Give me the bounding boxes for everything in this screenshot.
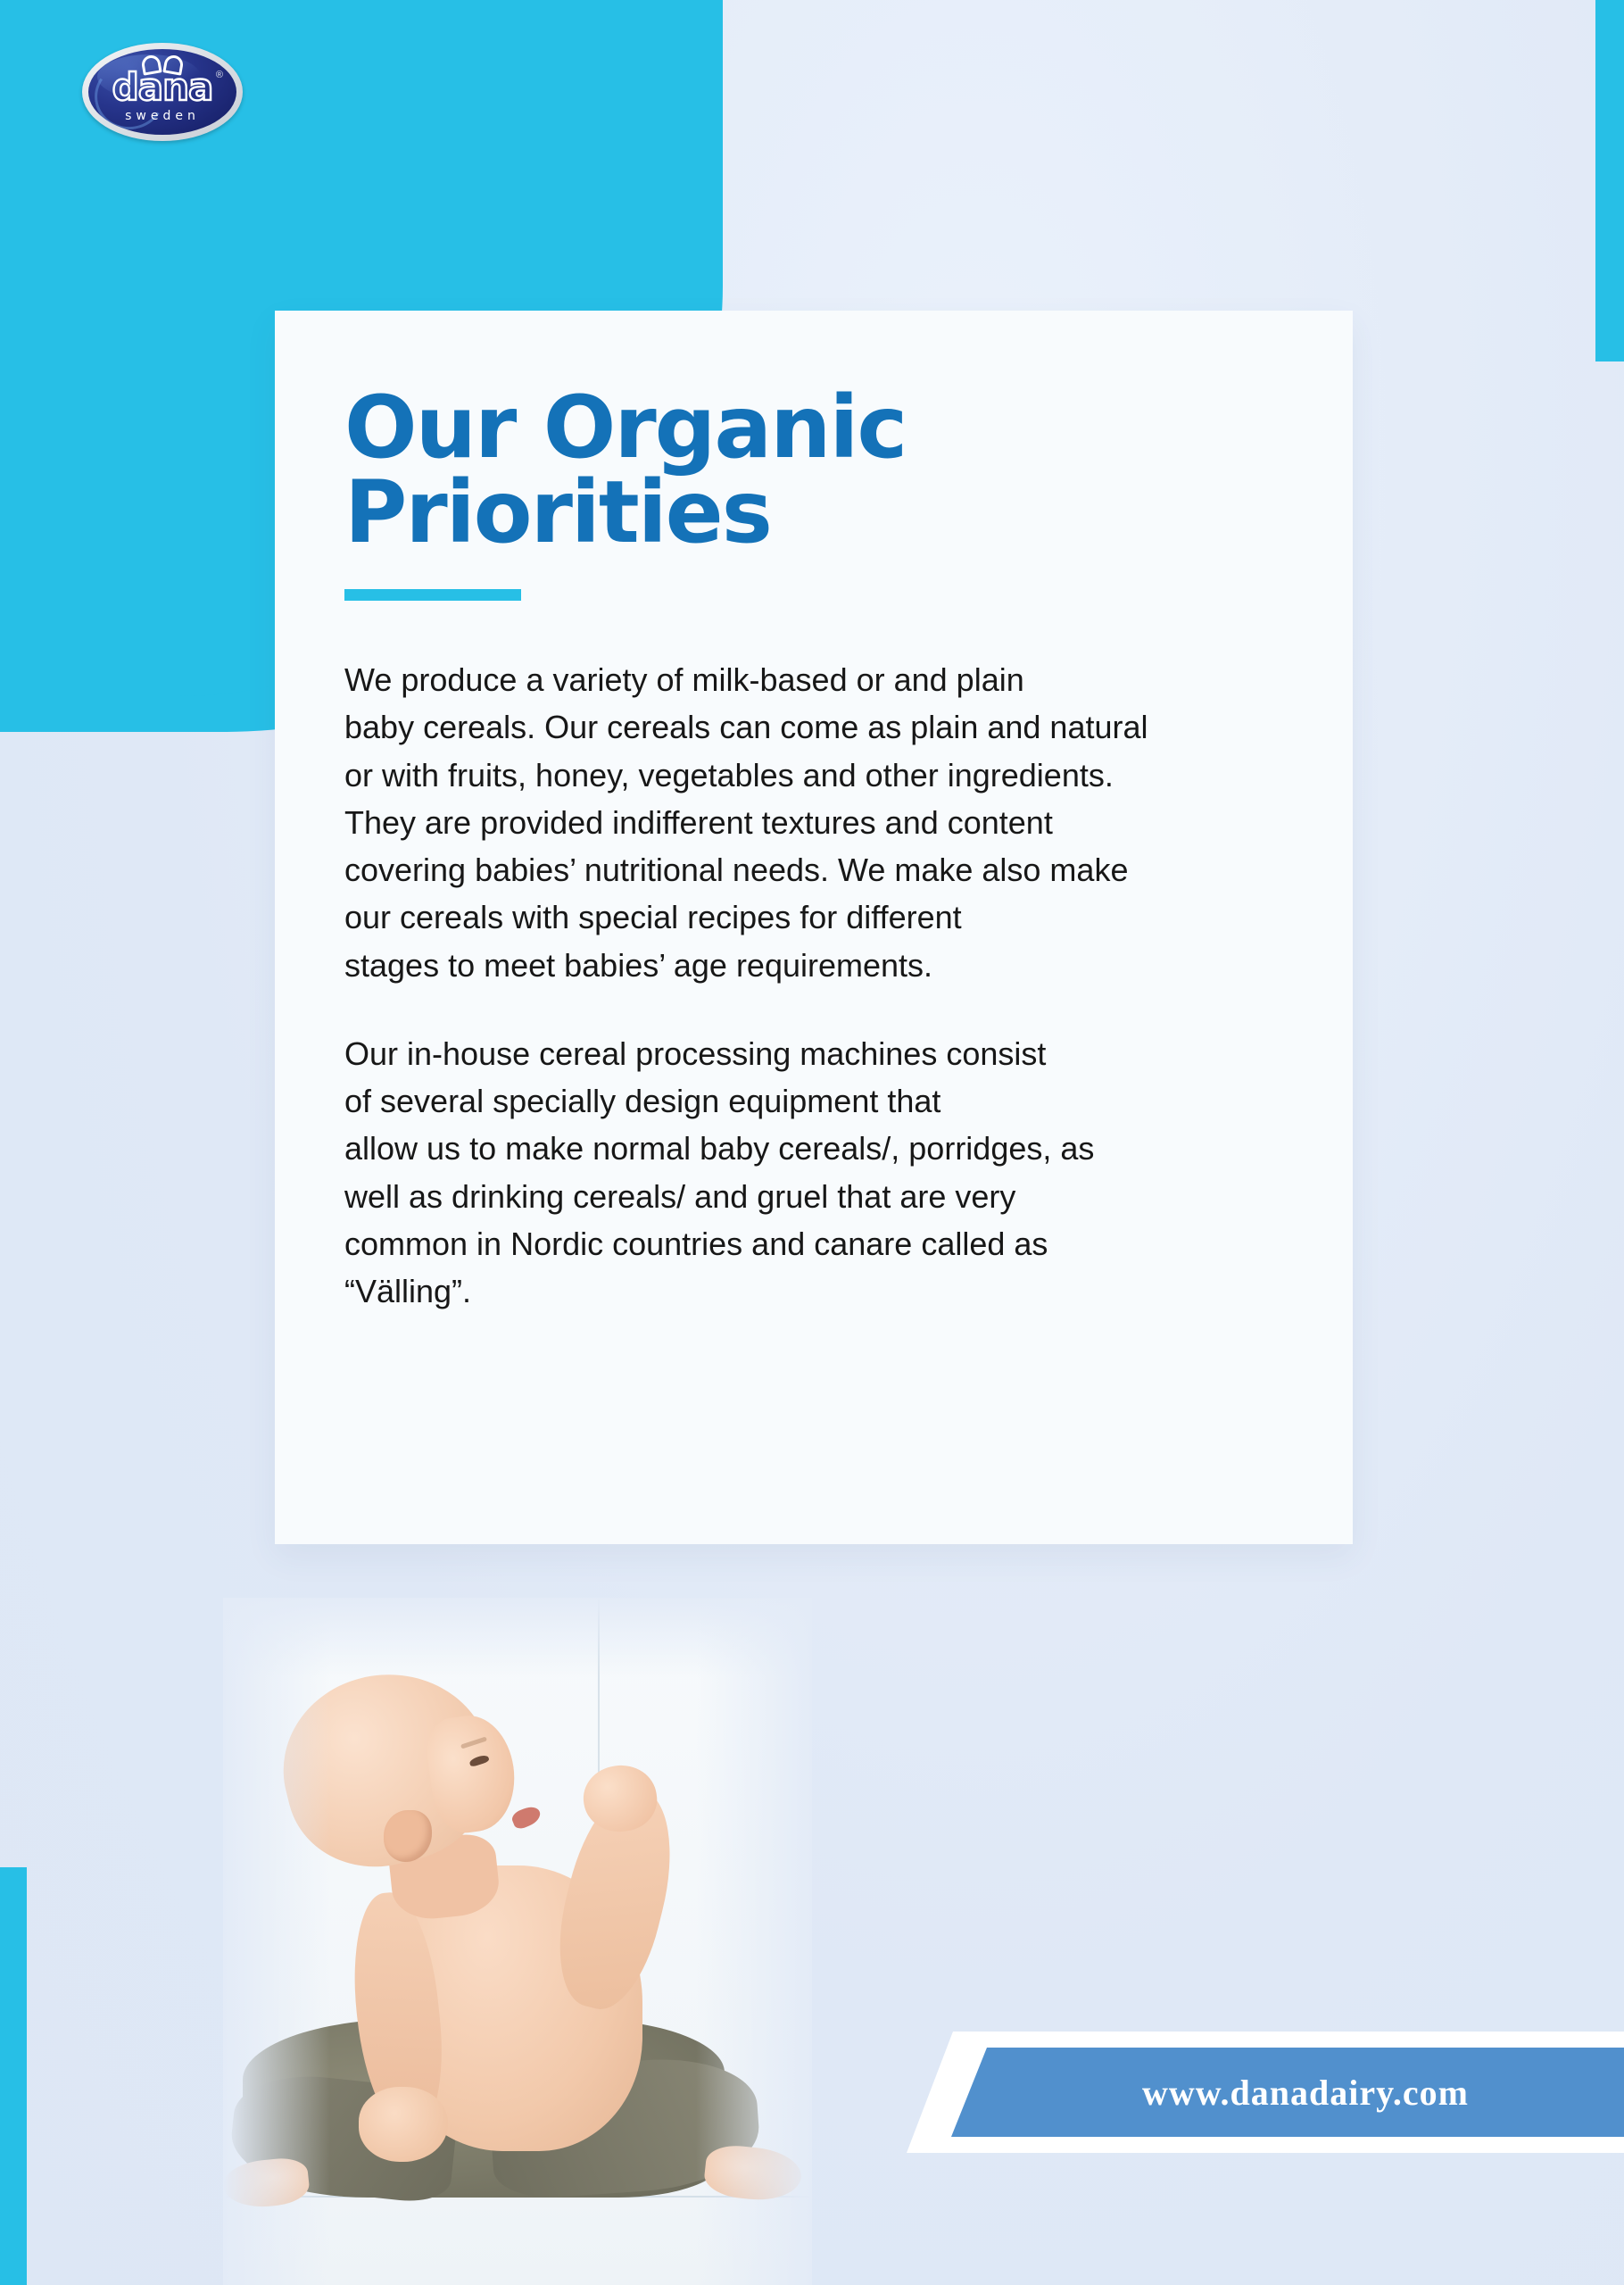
- logo-tagline: sweden: [82, 109, 243, 123]
- page-title: Our Organic Priorities: [344, 386, 1283, 555]
- poster-page: dana sweden ® Our Organic Priorities We …: [0, 0, 1624, 2285]
- website-url[interactable]: www.danadairy.com: [1142, 2072, 1469, 2114]
- dana-logo[interactable]: dana sweden ®: [82, 43, 243, 141]
- title-accent-underline: [344, 589, 521, 601]
- cyan-right-accent-bar: [1595, 0, 1624, 361]
- cyan-left-accent-bar: [0, 1867, 27, 2285]
- body-paragraph-2: Our in-house cereal processing machines …: [344, 1030, 1283, 1316]
- content-card: Our Organic Priorities We produce a vari…: [275, 311, 1353, 1544]
- registered-trademark-icon: ®: [216, 70, 223, 80]
- baby-mouth: [510, 1804, 543, 1832]
- photo-edge-fade-right: [696, 1598, 812, 2285]
- content-card-inner: Our Organic Priorities We produce a vari…: [275, 311, 1353, 1316]
- body-paragraph-1: We produce a variety of milk-based or an…: [344, 656, 1283, 989]
- footer-banner: www.danadairy.com: [907, 2032, 1624, 2153]
- baby-photo: [223, 1598, 812, 2285]
- baby-hand-left: [359, 2087, 448, 2162]
- footer-banner-fill[interactable]: www.danadairy.com: [951, 2048, 1624, 2137]
- photo-edge-fade-left: [223, 1598, 330, 2285]
